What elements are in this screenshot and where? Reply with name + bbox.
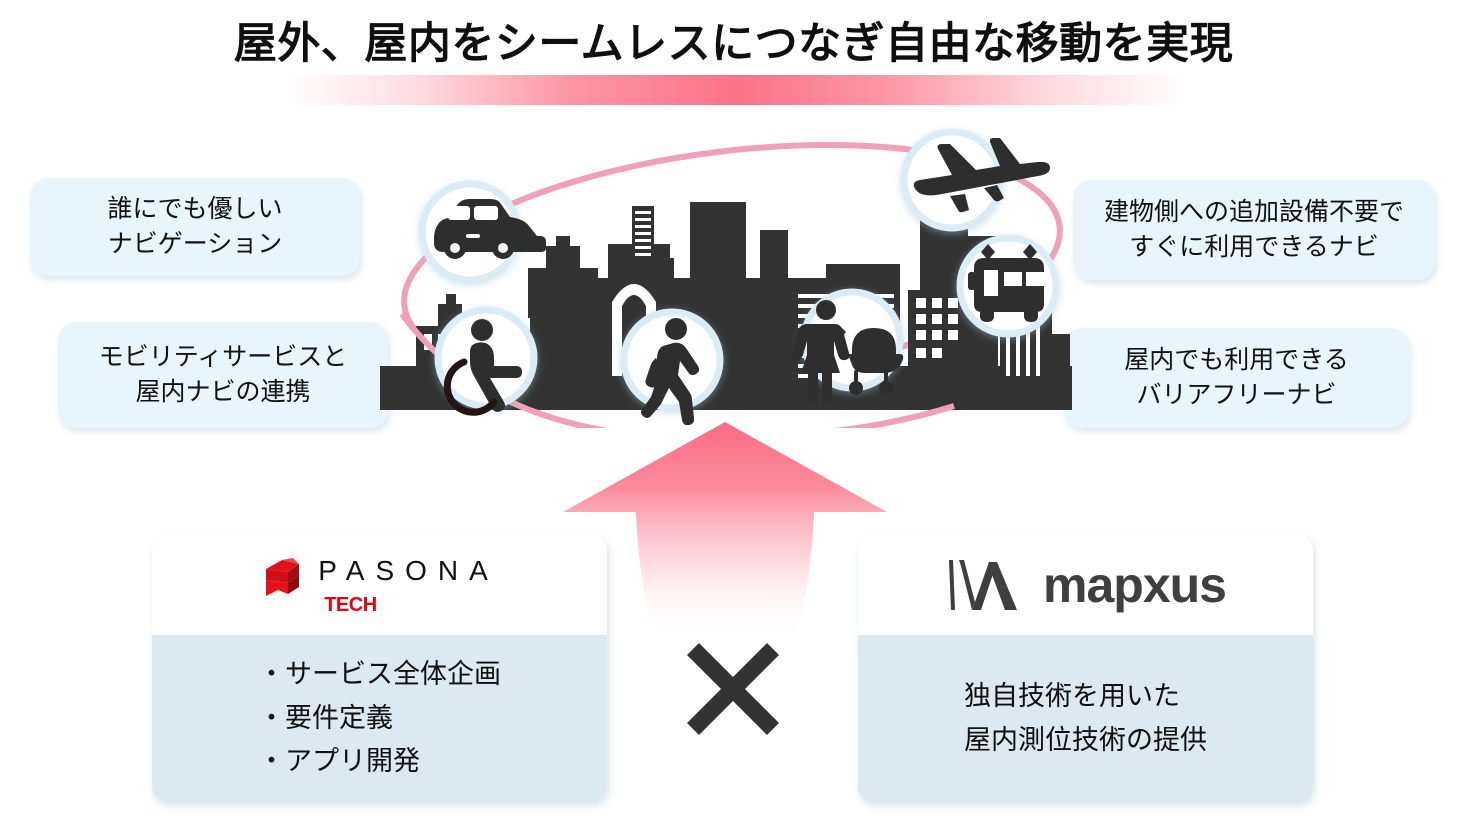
partner-card-pasona: PASONA TECH ・サービス全体企画 ・要件定義 ・アプリ開発 xyxy=(152,534,607,802)
callout-bottom-right: 屋内でも利用できる バリアフリーナビ xyxy=(1064,328,1409,428)
pasona-logo-mark xyxy=(260,556,304,602)
icon-bubble-tram xyxy=(960,238,1056,334)
pasona-logo-area: PASONA TECH xyxy=(152,534,607,635)
upward-arrow xyxy=(560,418,890,638)
mapxus-responsibility-text: 独自技術を用いた 屋内測位技術の提供 xyxy=(964,675,1207,762)
partner-card-mapxus: mapxus 独自技術を用いた 屋内測位技術の提供 xyxy=(858,534,1313,802)
pasona-card-body: ・サービス全体企画 ・要件定義 ・アプリ開発 xyxy=(152,635,607,802)
page-title: 屋外、屋内をシームレスにつなぎ自由な移動を実現 xyxy=(0,18,1467,72)
mapxus-logo-lockup: mapxus xyxy=(945,556,1226,614)
mapxus-logo-mark xyxy=(945,556,1023,614)
callout-top-left: 誰にでも優しい ナビゲーション xyxy=(30,178,360,276)
pasona-wordmark: PASONA xyxy=(318,556,499,587)
pasona-sub-wordmark: TECH xyxy=(324,594,376,617)
title-highlight-bar xyxy=(283,75,1189,105)
mapxus-logo-area: mapxus xyxy=(858,534,1313,635)
arrow-shape xyxy=(563,422,887,638)
infographic-canvas: 屋外、屋内をシームレスにつなぎ自由な移動を実現 誰にでも優しい ナビゲーション … xyxy=(0,0,1467,825)
mapxus-wordmark: mapxus xyxy=(1043,560,1226,610)
pasona-logo-lockup: PASONA TECH xyxy=(260,556,499,618)
pasona-responsibility-list: ・サービス全体企画 ・要件定義 ・アプリ開発 xyxy=(258,653,501,784)
icon-bubble-airplane xyxy=(904,132,1050,228)
title-block: 屋外、屋内をシームレスにつなぎ自由な移動を実現 xyxy=(0,18,1467,98)
city-skyline-graphic xyxy=(360,118,1100,428)
icon-bubble-wheelchair xyxy=(438,310,534,412)
mapxus-card-body: 独自技術を用いた 屋内測位技術の提供 xyxy=(858,635,1313,802)
multiplication-x-icon xyxy=(681,637,785,741)
pasona-name-block: PASONA TECH xyxy=(318,556,499,618)
car-icon xyxy=(434,199,546,259)
callout-bottom-left: モビリティサービスと 屋内ナビの連携 xyxy=(58,322,388,428)
callout-top-right: 建物側への追加設備不要で すぐに利用できるナビ xyxy=(1073,180,1435,280)
